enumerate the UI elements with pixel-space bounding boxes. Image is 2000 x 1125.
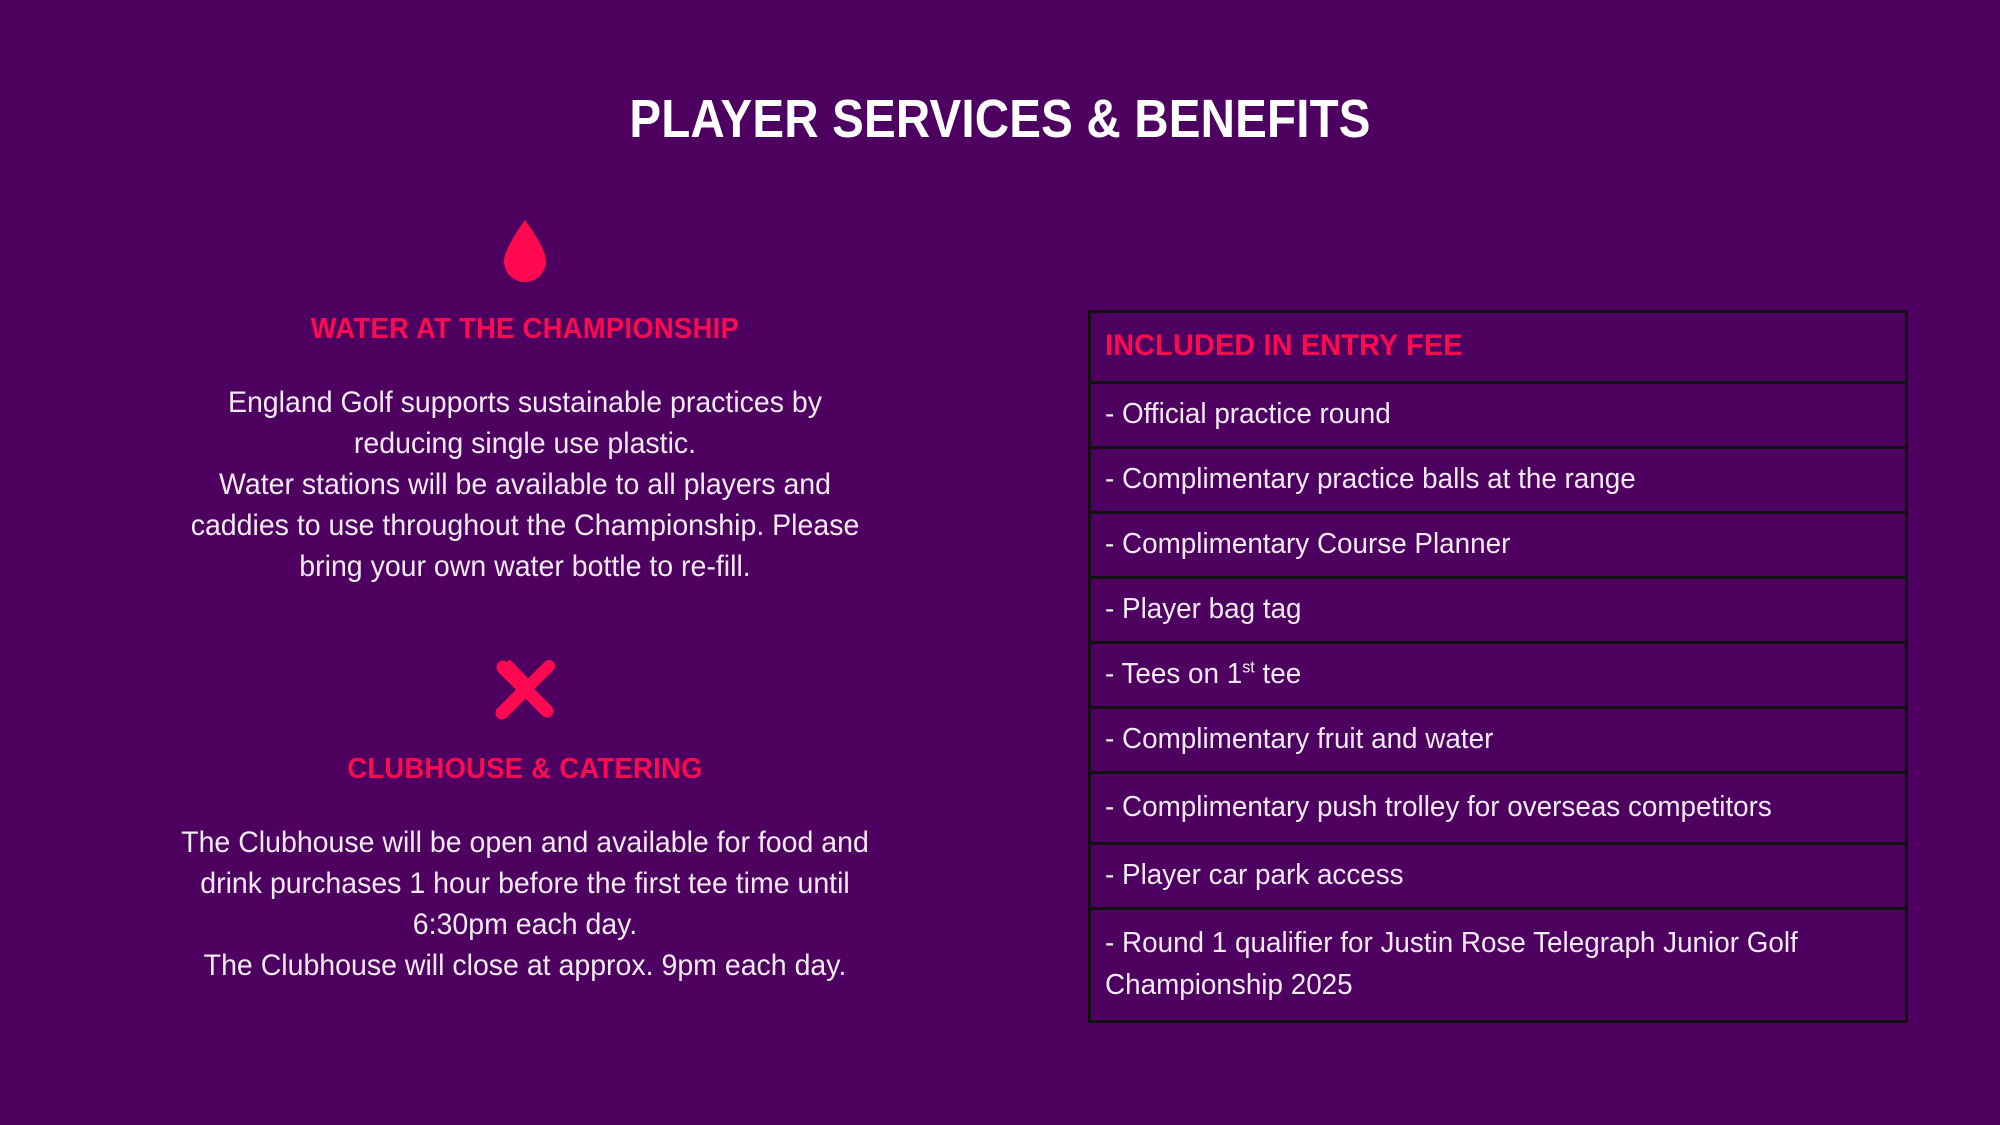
ordinal-suffix: st: [1242, 657, 1255, 676]
body-line: caddies to use throughout the Championsh…: [83, 505, 967, 546]
table-row: INCLUDED IN ENTRY FEE: [1090, 312, 1907, 383]
table-cell-tees: - Tees on 1st tee: [1090, 643, 1907, 708]
body-line: The Clubhouse will be open and available…: [83, 822, 967, 863]
page-title: PLAYER SERVICES & BENEFITS: [120, 88, 1880, 150]
table-row: - Complimentary practice balls at the ra…: [1090, 448, 1907, 513]
table-row: - Player bag tag: [1090, 578, 1907, 643]
table-cell-text: - Official practice round: [1105, 393, 1860, 435]
table-row: - Tees on 1st tee: [1090, 643, 1907, 708]
table-cell: - Player bag tag: [1090, 578, 1907, 643]
body-line: The Clubhouse will close at approx. 9pm …: [83, 945, 967, 986]
body-line: bring your own water bottle to re-fill.: [83, 546, 967, 587]
body-line: drink purchases 1 hour before the first …: [83, 863, 967, 904]
table-cell-text: - Complimentary practice balls at the ra…: [1105, 458, 1860, 500]
tees-suffix: tee: [1255, 658, 1301, 690]
body-line: reducing single use plastic.: [83, 423, 967, 464]
body-line: Water stations will be available to all …: [83, 464, 967, 505]
table-cell-text: - Tees on 1st tee: [1105, 653, 1860, 695]
clubhouse-section-body: The Clubhouse will be open and available…: [83, 822, 967, 986]
table-row: - Complimentary Course Planner: [1090, 513, 1907, 578]
tees-prefix: - Tees on 1: [1105, 658, 1242, 690]
table-cell: - Complimentary practice balls at the ra…: [1090, 448, 1907, 513]
clubhouse-section-heading: CLUBHOUSE & CATERING: [88, 753, 962, 786]
water-section: WATER AT THE CHAMPIONSHIP England Golf s…: [60, 215, 990, 587]
clubhouse-section: CLUBHOUSE & CATERING The Clubhouse will …: [60, 655, 990, 986]
table-cell: - Round 1 qualifier for Justin Rose Tele…: [1090, 909, 1907, 1022]
body-line: England Golf supports sustainable practi…: [83, 382, 967, 423]
table-row: - Round 1 qualifier for Justin Rose Tele…: [1090, 909, 1907, 1022]
table-cell: - Official practice round: [1090, 383, 1907, 448]
water-droplet-icon: [60, 215, 990, 287]
fork-and-knife-icon: [60, 655, 990, 727]
table-header-cell: INCLUDED IN ENTRY FEE: [1090, 312, 1907, 383]
table-cell-text: - Player bag tag: [1105, 588, 1860, 630]
table-cell: - Complimentary push trolley for oversea…: [1090, 773, 1907, 844]
table-cell-text: - Player car park access: [1105, 854, 1860, 896]
table-row: - Complimentary push trolley for oversea…: [1090, 773, 1907, 844]
table-row: - Player car park access: [1090, 844, 1907, 909]
table-cell: - Complimentary fruit and water: [1090, 708, 1907, 773]
table-row: - Complimentary fruit and water: [1090, 708, 1907, 773]
table-cell-text: - Round 1 qualifier for Justin Rose Tele…: [1105, 922, 1860, 1006]
table-header-label: INCLUDED IN ENTRY FEE: [1105, 325, 1860, 367]
left-column: WATER AT THE CHAMPIONSHIP England Golf s…: [60, 215, 990, 986]
slide-canvas: PLAYER SERVICES & BENEFITS WATER AT THE …: [0, 0, 2000, 1125]
body-line: 6:30pm each day.: [83, 904, 967, 945]
table-cell: - Player car park access: [1090, 844, 1907, 909]
table-cell-text: - Complimentary fruit and water: [1105, 718, 1860, 760]
included-in-entry-fee-table: INCLUDED IN ENTRY FEE - Official practic…: [1088, 310, 1908, 1023]
table-cell-text: - Complimentary Course Planner: [1105, 523, 1860, 565]
table-cell: - Complimentary Course Planner: [1090, 513, 1907, 578]
table-row: - Official practice round: [1090, 383, 1907, 448]
water-section-heading: WATER AT THE CHAMPIONSHIP: [88, 313, 962, 346]
table-cell-text: - Complimentary push trolley for oversea…: [1105, 786, 1860, 828]
water-section-body: England Golf supports sustainable practi…: [83, 382, 967, 587]
